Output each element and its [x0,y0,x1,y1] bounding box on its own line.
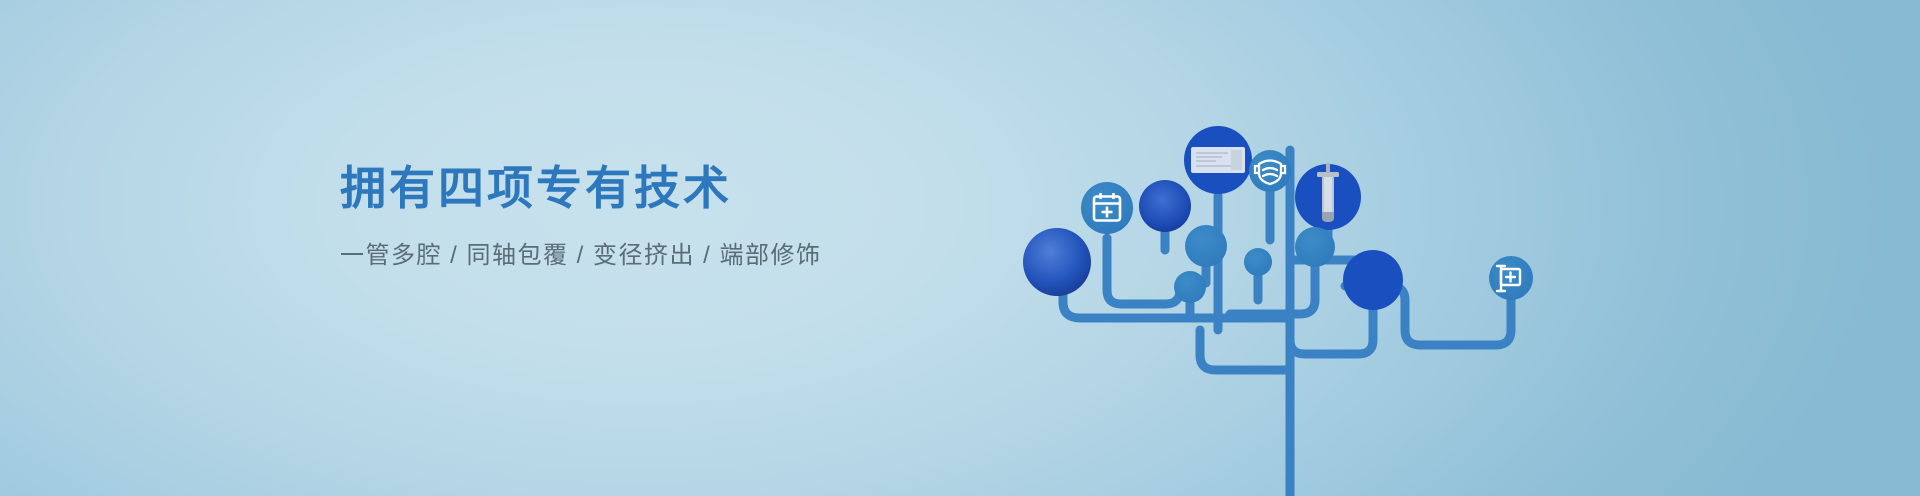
node-circle [1343,250,1403,310]
node-catheter-bundle-photo[interactable] [1023,228,1091,296]
node-plain-b[interactable] [1244,248,1272,276]
node-sterile-package-photo[interactable] [1184,126,1252,194]
node-calendar-plus[interactable] [1081,182,1133,234]
hero-banner: 拥有四项专有技术 一管多腔 / 同轴包覆 / 变径挤出 / 端部修饰 [0,0,1920,496]
node-hospital-sign[interactable] [1489,256,1533,300]
sterile-package-photo [1191,147,1245,173]
tree-svg [880,0,1920,496]
node-syringe-photo[interactable] [1295,163,1361,230]
node-face-mask[interactable] [1249,150,1291,192]
branch-lower-right-hook [1200,330,1290,370]
node-extruded-tube-photo[interactable] [1343,250,1403,310]
branch-node-c-rail [1230,268,1315,314]
node-plain-a[interactable] [1185,225,1227,267]
node-iv-set-photo[interactable] [1139,180,1191,232]
node-circle [1139,180,1191,232]
node-circle [1023,228,1091,296]
technology-tree-graphic [880,0,1920,496]
node-plain-d[interactable] [1174,271,1206,303]
node-plain-c[interactable] [1295,227,1335,267]
